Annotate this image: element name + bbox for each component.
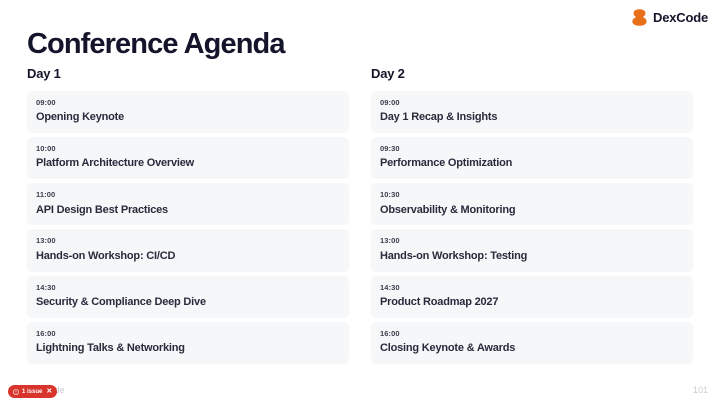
agenda-item[interactable]: 14:30 Security & Compliance Deep Dive xyxy=(27,276,349,318)
close-icon[interactable]: ✕ xyxy=(46,388,52,395)
agenda-item[interactable]: 13:00 Hands-on Workshop: CI/CD xyxy=(27,229,349,271)
agenda-item-time: 14:30 xyxy=(36,283,340,294)
agenda-column-day2: Day 2 09:00 Day 1 Recap & Insights 09:30… xyxy=(371,66,693,364)
agenda-item-time: 16:00 xyxy=(36,329,340,340)
agenda-item-topic: Closing Keynote & Awards xyxy=(380,342,684,356)
agenda-item[interactable]: 09:00 Day 1 Recap & Insights xyxy=(371,91,693,133)
page-number: 101 xyxy=(693,385,708,397)
agenda-item-topic: Performance Optimization xyxy=(380,157,684,171)
column-heading-day1: Day 1 xyxy=(27,66,349,82)
agenda-item-time: 11:00 xyxy=(36,190,340,201)
agenda-item[interactable]: 16:00 Closing Keynote & Awards xyxy=(371,322,693,364)
agenda-item[interactable]: 14:30 Product Roadmap 2027 xyxy=(371,276,693,318)
agenda-item[interactable]: 11:00 API Design Best Practices xyxy=(27,183,349,225)
agenda-item-time: 09:30 xyxy=(380,144,684,155)
agenda-columns: Day 1 09:00 Opening Keynote 10:00 Platfo… xyxy=(27,66,693,364)
issue-badge-label: 1 issue xyxy=(22,389,42,395)
agenda-item[interactable]: 13:00 Hands-on Workshop: Testing xyxy=(371,229,693,271)
agenda-list-day2: 09:00 Day 1 Recap & Insights 09:30 Perfo… xyxy=(371,91,693,365)
agenda-item-topic: Opening Keynote xyxy=(36,111,340,125)
agenda-item-time: 16:00 xyxy=(380,329,684,340)
agenda-item[interactable]: 16:00 Lightning Talks & Networking xyxy=(27,322,349,364)
agenda-item[interactable]: 09:30 Performance Optimization xyxy=(371,137,693,179)
slide-canvas: DexCode Conference Agenda Day 1 09:00 Op… xyxy=(0,0,720,405)
agenda-item-topic: Observability & Monitoring xyxy=(380,204,684,218)
brand-logo: DexCode xyxy=(632,9,708,26)
agenda-item-time: 10:30 xyxy=(380,190,684,201)
agenda-item-time: 09:00 xyxy=(36,98,340,109)
agenda-item-topic: Security & Compliance Deep Dive xyxy=(36,296,340,310)
agenda-item-topic: Hands-on Workshop: Testing xyxy=(380,250,684,264)
column-heading-day2: Day 2 xyxy=(371,66,693,82)
agenda-item-time: 13:00 xyxy=(36,236,340,247)
issue-badge[interactable]: 1 issue ✕ xyxy=(8,385,57,398)
agenda-list-day1: 09:00 Opening Keynote 10:00 Platform Arc… xyxy=(27,91,349,365)
agenda-item-topic: Hands-on Workshop: CI/CD xyxy=(36,250,340,264)
agenda-item-time: 14:30 xyxy=(380,283,684,294)
brand-name: DexCode xyxy=(653,11,708,24)
agenda-item-topic: Product Roadmap 2027 xyxy=(380,296,684,310)
agenda-item[interactable]: 10:00 Platform Architecture Overview xyxy=(27,137,349,179)
warning-circle-icon xyxy=(13,389,19,395)
agenda-item-topic: API Design Best Practices xyxy=(36,204,340,218)
agenda-item-time: 13:00 xyxy=(380,236,684,247)
dexcode-blob-icon xyxy=(632,9,647,26)
page-title: Conference Agenda xyxy=(27,28,285,61)
agenda-item-time: 09:00 xyxy=(380,98,684,109)
agenda-item-topic: Lightning Talks & Networking xyxy=(36,342,340,356)
agenda-item[interactable]: 10:30 Observability & Monitoring xyxy=(371,183,693,225)
agenda-column-day1: Day 1 09:00 Opening Keynote 10:00 Platfo… xyxy=(27,66,349,364)
agenda-item[interactable]: 09:00 Opening Keynote xyxy=(27,91,349,133)
agenda-item-topic: Day 1 Recap & Insights xyxy=(380,111,684,125)
agenda-item-topic: Platform Architecture Overview xyxy=(36,157,340,171)
agenda-item-time: 10:00 xyxy=(36,144,340,155)
